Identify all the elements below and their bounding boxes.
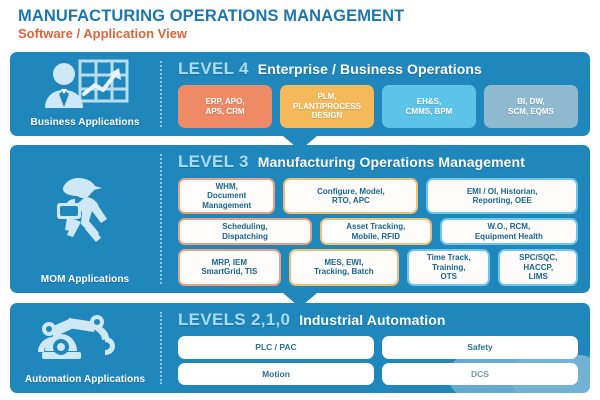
panel-level-4: Business Applications LEVEL 4 Enterprise… [10,52,590,136]
level-4-icon-label: Business Applications [31,117,140,134]
panel-level-3: MOM Applications LEVEL 3 Manufacturing O… [10,145,590,293]
chip-row: Scheduling,DispatchingAsset Tracking,Mob… [178,218,578,245]
capability-chip[interactable]: W.O., RCM,Equipment Health [440,218,578,245]
capability-chip[interactable]: EH&S,CMMS, BPM [382,85,476,128]
capability-chip[interactable]: MRP, IEMSmartGrid, TIS [178,249,281,285]
chip-row: WHM,DocumentManagementConfigure, Model,R… [178,178,578,214]
capability-chip[interactable]: SPC/SQC,HACCP,LIMS [498,249,578,285]
levels-210-content: LEVELS 2,1,0 Industrial Automation PLC /… [162,303,590,393]
level-4-name: Enterprise / Business Operations [258,61,482,77]
business-applications-icon [10,52,160,117]
capability-chip[interactable]: Safety [382,336,578,359]
capability-chip[interactable]: BI, DW,SCM, EQMS [484,85,578,128]
capability-chip[interactable]: Scheduling,Dispatching [178,218,312,245]
level-4-icon-column: Business Applications [10,52,160,136]
level-3-chip-rows: WHM,DocumentManagementConfigure, Model,R… [178,178,578,286]
level-4-heading: LEVEL 4 Enterprise / Business Operations [178,59,578,79]
chip-row: ERP, APO,APS, CRMPLM,PLANT/PROCESSDESIGN… [178,85,578,128]
capability-chip[interactable]: Configure, Model,RTO, APC [283,178,418,214]
level-3-icon-label: MOM Applications [41,274,129,291]
capability-chip[interactable]: EMI / OI, Historian,Reporting, OEE [426,178,578,214]
capability-chip[interactable]: Asset Tracking,Mobile, RFID [320,218,432,245]
diagram-root: MANUFACTURING OPERATIONS MANAGEMENT Soft… [0,0,600,400]
levels-210-divider [160,312,162,384]
level-4-divider [160,61,162,127]
automation-applications-icon [10,303,160,374]
page-title: MANUFACTURING OPERATIONS MANAGEMENT [18,7,600,25]
levels-210-number: LEVELS 2,1,0 [178,310,290,330]
levels-210-chip-rows: PLC / PACSafetyMotionDCS [178,336,578,385]
title-block: MANUFACTURING OPERATIONS MANAGEMENT Soft… [0,0,600,42]
capability-chip[interactable]: DCS [382,363,578,386]
capability-chip[interactable]: Time Track,Training,OTS [407,249,490,285]
capability-chip[interactable]: WHM,DocumentManagement [178,178,275,214]
capability-chip[interactable]: MES, EWI,Tracking, Batch [289,249,399,285]
level-3-heading: LEVEL 3 Manufacturing Operations Managem… [178,152,578,172]
levels-210-icon-column: Automation Applications [10,303,160,393]
level-4-number: LEVEL 4 [178,59,249,79]
levels-210-name: Industrial Automation [299,312,445,328]
level-3-icon-column: MOM Applications [10,145,160,293]
level-3-divider [160,154,162,284]
chip-row: PLC / PACSafety [178,336,578,359]
chip-row: MRP, IEMSmartGrid, TISMES, EWI,Tracking,… [178,249,578,285]
capability-chip[interactable]: PLM,PLANT/PROCESSDESIGN [280,85,374,128]
capability-chip[interactable]: Motion [178,363,374,386]
level-4-chip-rows: ERP, APO,APS, CRMPLM,PLANT/PROCESSDESIGN… [178,85,578,128]
capability-chip[interactable]: PLC / PAC [178,336,374,359]
level-3-number: LEVEL 3 [178,152,249,172]
level-4-content: LEVEL 4 Enterprise / Business Operations… [162,52,590,136]
levels-210-heading: LEVELS 2,1,0 Industrial Automation [178,310,578,330]
page-subtitle: Software / Application View [18,26,600,42]
capability-chip[interactable]: ERP, APO,APS, CRM [178,85,272,128]
panel-levels-210: Automation Applications LEVELS 2,1,0 Ind… [10,303,590,393]
level-3-name: Manufacturing Operations Management [258,154,525,170]
levels-210-icon-label: Automation Applications [25,374,145,391]
chip-row: MotionDCS [178,363,578,386]
level-3-content: LEVEL 3 Manufacturing Operations Managem… [162,145,590,293]
mom-applications-icon [10,145,160,274]
